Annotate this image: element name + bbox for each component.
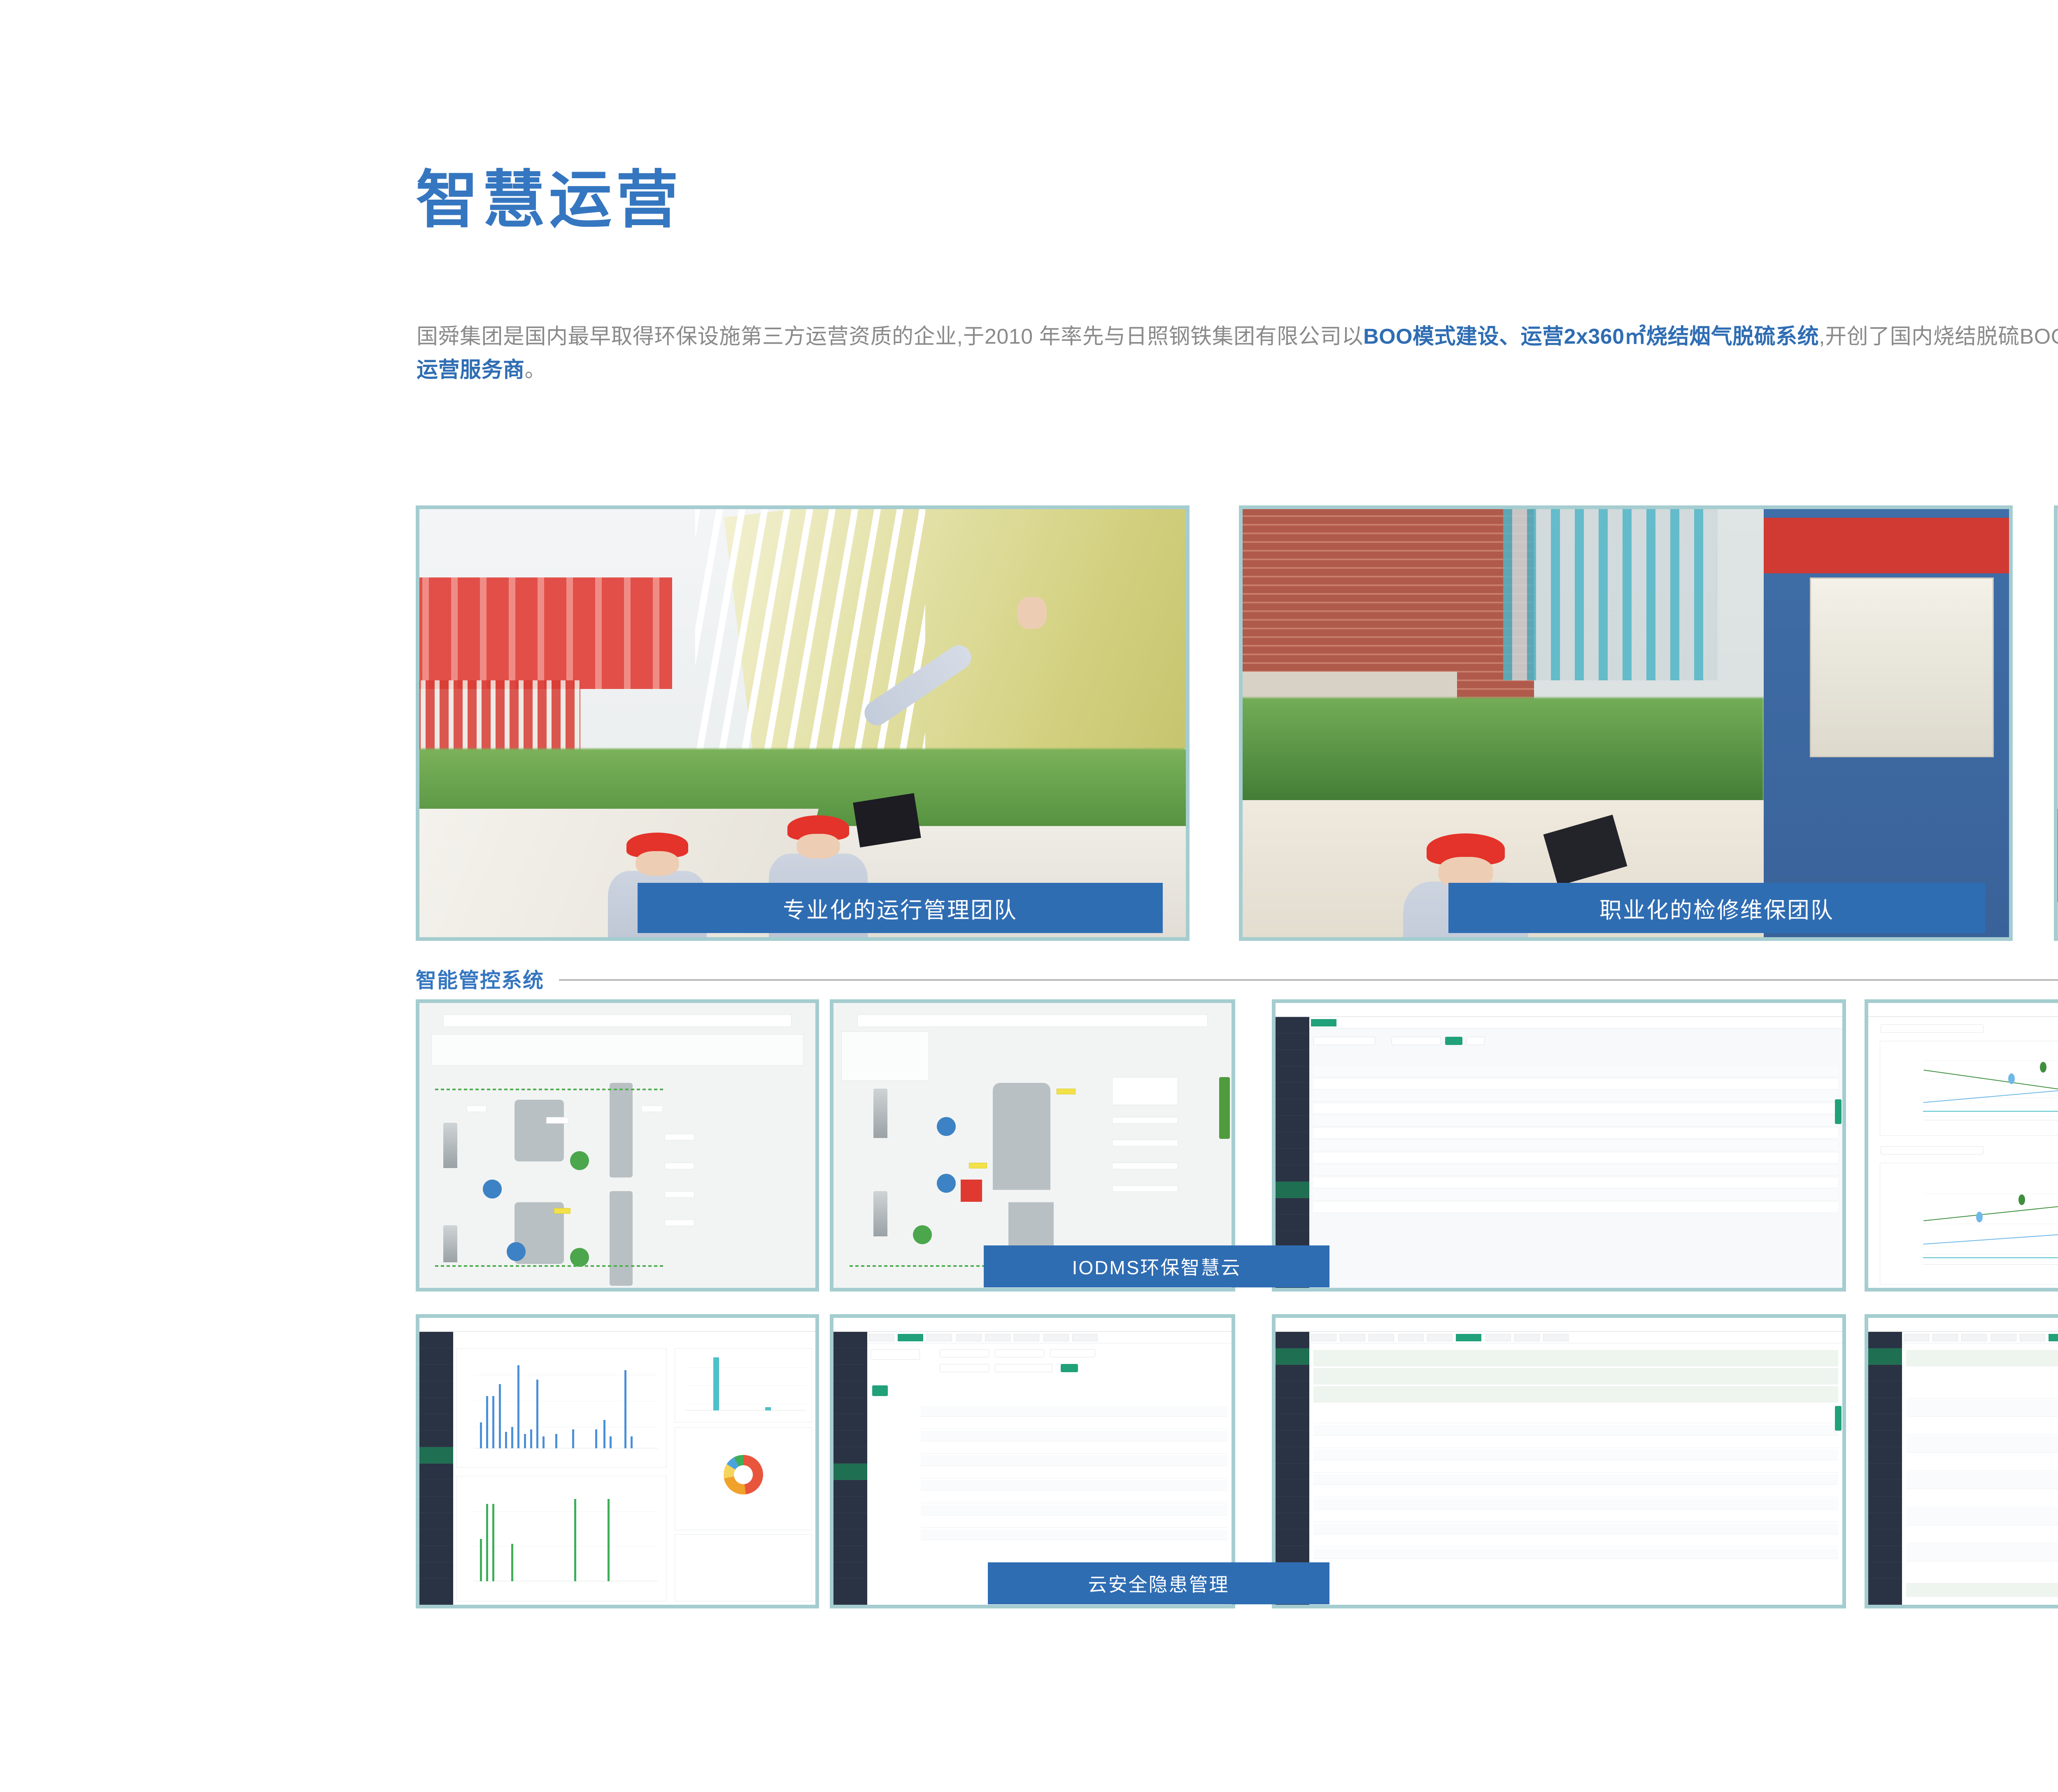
- photo-card-standardized-management[interactable]: 标准化的运营管理: [2054, 505, 2058, 941]
- intro-part-5: 。: [525, 358, 547, 382]
- screenshot-scada-overview[interactable]: [416, 999, 819, 1292]
- mini-sidebar: [1276, 1318, 1309, 1605]
- section-header-intelligent-control: 智能管控系统: [416, 960, 2058, 997]
- photo-card-maintenance-team[interactable]: 职业化的检修维保团队: [1239, 505, 2013, 941]
- page-root: 智慧运营 国舜集团是国内最早取得环保设施第三方运营资质的企业,于2010 年率先…: [0, 0, 2058, 1792]
- photo-caption-operations-team: 专业化的运行管理团队: [638, 883, 1163, 933]
- scada-overview-canvas: [419, 1003, 815, 1288]
- hazard-table-ui: [833, 1318, 1232, 1605]
- photo-image-maintenance-team: [1243, 509, 2009, 937]
- hazard-type-chart: [675, 1534, 812, 1601]
- operation-status-ui: [1868, 1318, 2058, 1605]
- screenshot-predictive-charts[interactable]: [1865, 999, 2058, 1292]
- intro-part-3: ,开创了国内烧结脱硫BOO模式的先河,是国内大气治理设施运营的先行者和领跑者,目…: [1819, 325, 2058, 349]
- predictive-maintenance-ui: [1868, 1003, 2058, 1288]
- mini-sidebar: [833, 1318, 867, 1605]
- screenshot-hazard-table[interactable]: [830, 1314, 1235, 1608]
- section-title: 智能管控系统: [416, 964, 544, 994]
- screenshot-production-data-table[interactable]: [1272, 1314, 1846, 1608]
- photo-card-operations-team[interactable]: 专业化的运行管理团队: [416, 505, 1190, 941]
- hazard-rate-chart: [456, 1476, 666, 1601]
- mini-sidebar: [419, 1318, 453, 1605]
- section-divider: [559, 979, 2058, 981]
- mini-sidebar: [1868, 1318, 1902, 1605]
- screenshot-risk-dashboard[interactable]: [416, 1314, 819, 1608]
- mini-sidebar: [1276, 1003, 1309, 1288]
- intro-part-2-highlight: BOO模式建设、运营2x360㎡烧结烟气脱硫系统: [1363, 325, 1819, 349]
- hazard-bar-chart: [456, 1348, 666, 1468]
- hazard-donut-chart: [675, 1427, 812, 1530]
- photo-card-row: 专业化的运行管理团队 职业化的检修维保团队: [416, 505, 2058, 942]
- screenshot-device-inspection-list[interactable]: [1272, 999, 1846, 1292]
- risk-dashboard-ui: [419, 1318, 815, 1605]
- system-screenshot-grid: IODMS环保智慧云 设备点检管理及预测性维护 云安全隐患管理 生产数据管理: [416, 999, 2058, 1621]
- scada-denox-canvas: [833, 1003, 1232, 1288]
- vibration-chart-1: [1880, 1041, 2058, 1136]
- page-title: 智慧运营: [416, 169, 682, 231]
- photo-image-operations-team: [419, 509, 1186, 937]
- photo-caption-maintenance-team: 职业化的检修维保团队: [1448, 883, 1985, 933]
- intro-paragraph: 国舜集团是国内最早取得环保设施第三方运营资质的企业,于2010 年率先与日照钢铁…: [417, 320, 2058, 386]
- hazard-level-chart: [675, 1348, 812, 1422]
- screenshot-operation-status-table[interactable]: [1865, 1314, 2058, 1608]
- vibration-chart-2: [1880, 1163, 2058, 1285]
- device-inspection-ui: [1276, 1003, 1842, 1288]
- screenshot-scada-denox[interactable]: [830, 999, 1235, 1292]
- intro-part-1: 国舜集团是国内最早取得环保设施第三方运营资质的企业,于2010 年率先与日照钢铁…: [417, 325, 1363, 349]
- production-data-ui: [1276, 1318, 1842, 1605]
